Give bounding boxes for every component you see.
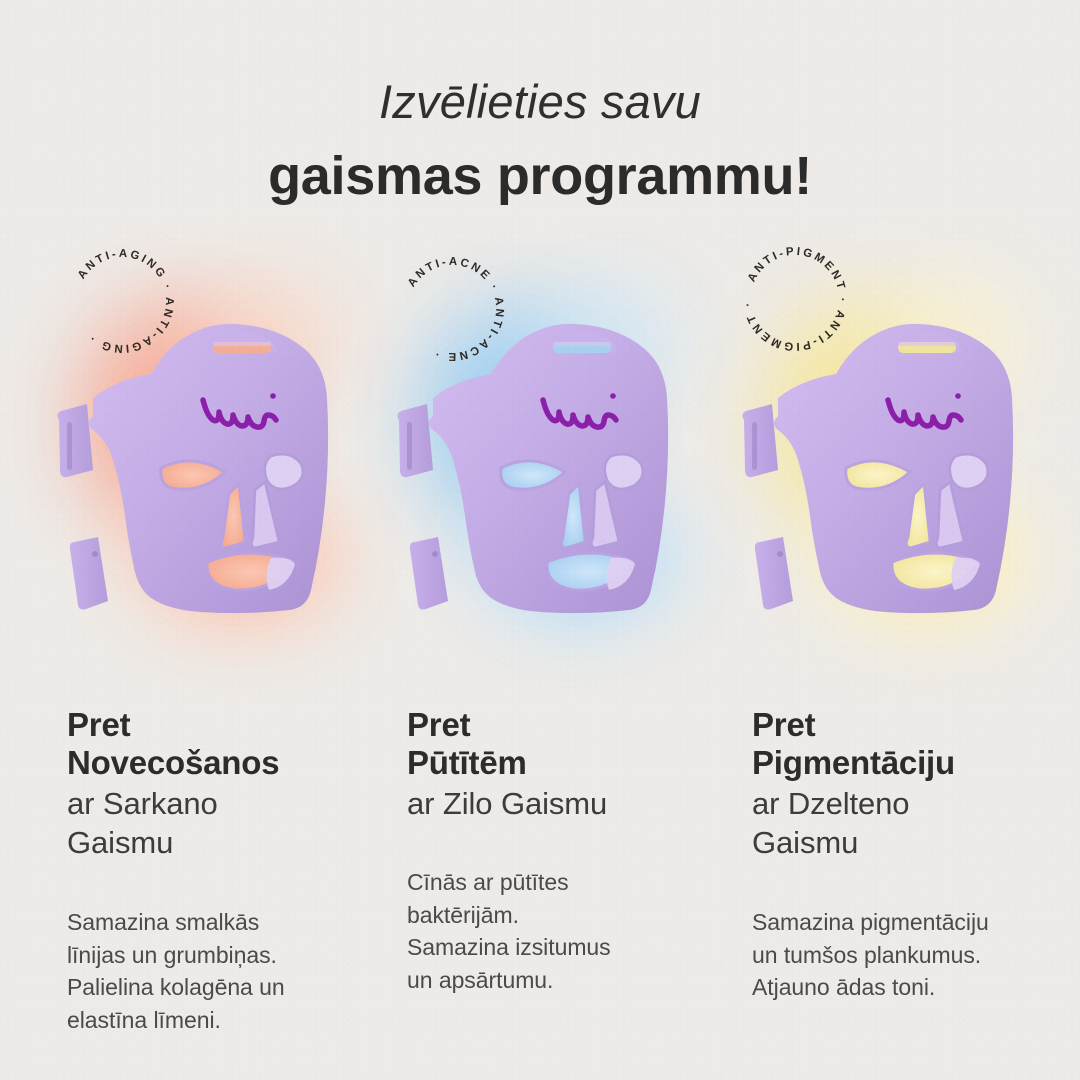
program-body-line4-1: un apsārtumu. [407, 964, 727, 997]
program-heading-1: Pret Pūtītēm ar Zilo Gaismu [407, 706, 727, 822]
led-mask-anti-pigment[interactable] [738, 308, 1068, 638]
program-subtitle-line2-0: Gaismu [67, 824, 387, 861]
program-body-line1-2: Samazina pigmentāciju [752, 906, 1080, 939]
program-body-line2-2: un tumšos plankumus. [752, 939, 1080, 972]
program-heading-2: Pret Pigmentāciju ar Dzelteno Gaismu [752, 706, 1072, 861]
program-body-line3-1: Samazina izsitumus [407, 931, 727, 964]
program-title-line1-0: Pret [67, 706, 387, 744]
program-body-line3-2: Atjauno ādas toni. [752, 971, 1080, 1004]
led-mask-anti-aging[interactable] [53, 308, 383, 638]
program-body-line1-0: Samazina smalkās [67, 906, 387, 939]
program-heading-0: Pret Novecošanos ar Sarkano Gaismu [67, 706, 387, 861]
program-card-anti-pigment[interactable]: ANTI-PIGMENT · ANTI-PIGMENT · [730, 0, 1075, 1080]
program-subtitle-line1-1: ar Zilo Gaismu [407, 785, 727, 822]
product-visual-2: ANTI-PIGMENT · ANTI-PIGMENT · [730, 236, 1075, 666]
program-body-2: Samazina pigmentāciju un tumšos plankumu… [752, 906, 1080, 1004]
program-subtitle-line1-0: ar Sarkano [67, 785, 387, 822]
program-title-line2-0: Novecošanos [67, 744, 387, 782]
product-visual-0: ANTI-AGING · ANTI-AGING · [45, 236, 390, 666]
poster-canvas: Izvēlieties savu gaismas programmu! ANTI… [0, 0, 1080, 1080]
program-subtitle-line1-2: ar Dzelteno [752, 785, 1072, 822]
program-title-line1-1: Pret [407, 706, 727, 744]
program-body-line2-0: līnijas un grumbiņas. [67, 939, 387, 972]
program-card-anti-acne[interactable]: ANTI-ACNE · ANTI-ACNE · [385, 0, 730, 1080]
program-title-line2-2: Pigmentāciju [752, 744, 1072, 782]
program-title-line2-1: Pūtītēm [407, 744, 727, 782]
program-body-line3-0: Palielina kolagēna un [67, 971, 387, 1004]
program-title-line1-2: Pret [752, 706, 1072, 744]
program-body-line1-1: Cīnās ar pūtītes [407, 866, 727, 899]
program-columns: ANTI-AGING · ANTI-AGING · [0, 0, 1080, 1080]
program-body-line2-1: baktērijām. [407, 899, 727, 932]
program-card-anti-aging[interactable]: ANTI-AGING · ANTI-AGING · [45, 0, 390, 1080]
led-mask-anti-acne[interactable] [393, 308, 723, 638]
program-body-0: Samazina smalkās līnijas un grumbiņas. P… [67, 906, 387, 1037]
program-body-line4-0: elastīna līmeni. [67, 1004, 387, 1037]
program-subtitle-line2-2: Gaismu [752, 824, 1072, 861]
program-body-1: Cīnās ar pūtītes baktērijām. Samazina iz… [407, 866, 727, 997]
product-visual-1: ANTI-ACNE · ANTI-ACNE · [385, 236, 730, 666]
